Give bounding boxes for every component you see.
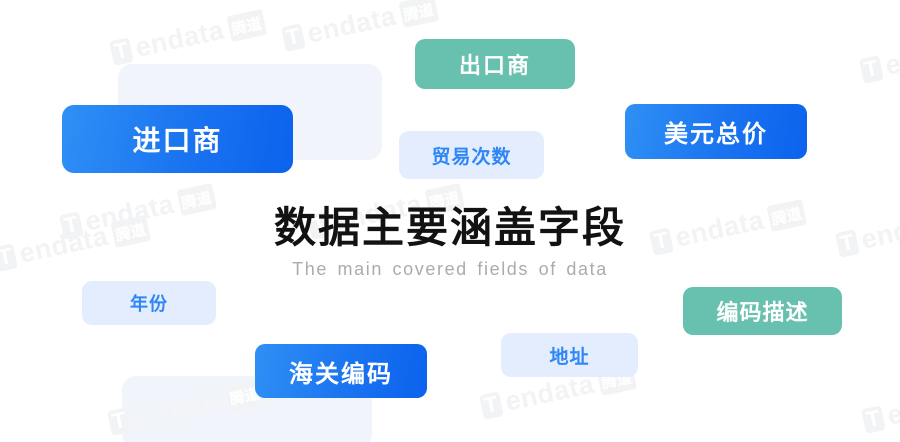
tendata-logo-icon: T xyxy=(859,55,883,84)
page-subtitle: The main covered fields of data xyxy=(0,259,900,280)
field-tag-total-usd-price[interactable]: 美元总价 xyxy=(625,104,807,159)
tendata-watermark: Tendata腾道 xyxy=(108,6,267,69)
tendata-logo-icon: T xyxy=(109,37,133,66)
field-tag-exporter[interactable]: 出口商 xyxy=(415,39,575,89)
field-tag-label: 美元总价 xyxy=(664,114,768,149)
field-tag-label: 地址 xyxy=(549,342,589,369)
field-tag-trade-count[interactable]: 贸易次数 xyxy=(399,131,544,179)
field-tag-customs-code[interactable]: 海关编码 xyxy=(255,344,427,398)
tendata-watermark-name: endata xyxy=(884,383,900,432)
field-tag-year[interactable]: 年份 xyxy=(82,281,216,325)
field-tag-label: 编码描述 xyxy=(716,295,808,327)
tendata-watermark-name: endata xyxy=(304,1,399,50)
field-tag-code-description[interactable]: 编码描述 xyxy=(683,287,842,335)
field-tag-label: 海关编码 xyxy=(289,354,393,389)
tendata-logo-icon: T xyxy=(861,405,885,434)
field-tag-address[interactable]: 地址 xyxy=(501,333,638,377)
field-tag-importer[interactable]: 进口商 xyxy=(62,105,293,173)
title-block: 数据主要涵盖字段 The main covered fields of data xyxy=(0,203,900,280)
field-tag-label: 出口商 xyxy=(459,48,531,80)
field-tag-label: 年份 xyxy=(130,290,168,316)
tendata-logo-icon: T xyxy=(479,391,503,420)
tendata-watermark-name: endata xyxy=(132,15,227,64)
page-title: 数据主要涵盖字段 xyxy=(0,203,900,253)
field-tag-label: 贸易次数 xyxy=(431,142,511,169)
tendata-watermark: Tendata腾道 xyxy=(860,374,900,437)
field-tag-label: 进口商 xyxy=(132,119,222,159)
infographic-canvas: Tendata腾道 Tendata腾道 Tendata腾道 Tendata腾道 … xyxy=(0,0,900,442)
tendata-logo-icon: T xyxy=(281,23,305,52)
tendata-watermark-cn: 腾道 xyxy=(226,9,267,42)
tendata-watermark-name: endata xyxy=(882,33,900,82)
tendata-watermark-cn: 腾道 xyxy=(398,0,439,28)
tendata-watermark: Tendata腾道 xyxy=(858,24,900,87)
